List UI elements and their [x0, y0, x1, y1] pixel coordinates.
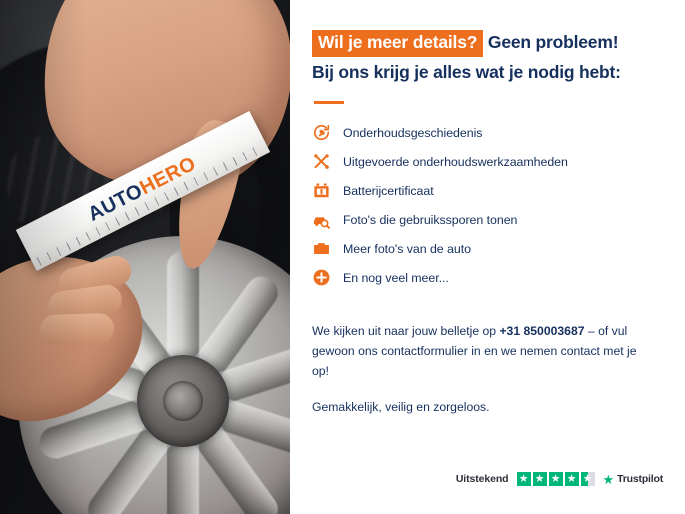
list-item-label: Batterijcertificaat [343, 184, 434, 198]
list-item-label: Meer foto's van de auto [343, 242, 471, 256]
list-item-label: Uitgevoerde onderhoudswerkzaamheden [343, 155, 568, 169]
details-content: Wil je meer details? Geen probleem! Bij … [290, 0, 685, 514]
list-item: Meer foto's van de auto [312, 234, 657, 263]
rating-word: Uitstekend [456, 473, 509, 485]
star-half: ★ [581, 472, 595, 486]
star-rating: ★ ★ ★ ★ ★ [517, 472, 595, 486]
star-filled: ★ [517, 472, 531, 486]
maintenance-history-icon [312, 123, 331, 142]
hero-photo: AUTOHERO [0, 0, 290, 514]
phone-number[interactable]: +31 850003687 [499, 324, 584, 338]
star-filled: ★ [533, 472, 547, 486]
car-inspection-icon [312, 210, 331, 229]
star-filled: ★ [565, 472, 579, 486]
headline-highlight: Wil je meer details? [312, 30, 483, 57]
wheel-hub-cap [137, 355, 229, 447]
star-filled: ★ [549, 472, 563, 486]
list-item: Uitgevoerde onderhoudswerkzaamheden [312, 147, 657, 176]
list-item-label: En nog veel meer... [343, 271, 449, 285]
closing-line: Gemakkelijk, veilig en zorgeloos. [312, 400, 657, 414]
list-item: Onderhoudsgeschiedenis [312, 118, 657, 147]
list-item: Foto's die gebruikssporen tonen [312, 205, 657, 234]
list-item: En nog veel meer... [312, 263, 657, 292]
plus-circle-icon [312, 268, 331, 287]
battery-icon [312, 181, 331, 200]
trustpilot-logo: ★ Trustpilot [603, 473, 664, 486]
headline-line2: Bij ons krijg je alles wat je nodig hebt… [312, 61, 657, 85]
finger [39, 313, 114, 346]
trustpilot-brand: Trustpilot [617, 473, 663, 485]
contact-text-before: We kijken uit naar jouw belletje op [312, 324, 499, 338]
contact-paragraph: We kijken uit naar jouw belletje op +31 … [312, 322, 652, 381]
list-item-label: Foto's die gebruikssporen tonen [343, 213, 517, 227]
promo-panel: AUTOHERO Wil je meer details? Geen probl… [0, 0, 685, 514]
page-title: Wil je meer details? Geen probleem! Bij … [312, 30, 657, 84]
tools-icon [312, 152, 331, 171]
trustpilot-star-icon: ★ [603, 473, 615, 486]
list-item: Batterijcertificaat [312, 176, 657, 205]
headline-after: Geen probleem! [488, 32, 618, 52]
feature-list: Onderhoudsgeschiedenis Uitgevoerde onder… [312, 118, 657, 292]
trustpilot-rating[interactable]: Uitstekend ★ ★ ★ ★ ★ ★ Trustpilot [456, 472, 663, 486]
list-item-label: Onderhoudsgeschiedenis [343, 126, 482, 140]
camera-icon [312, 239, 331, 258]
accent-divider [314, 101, 344, 104]
